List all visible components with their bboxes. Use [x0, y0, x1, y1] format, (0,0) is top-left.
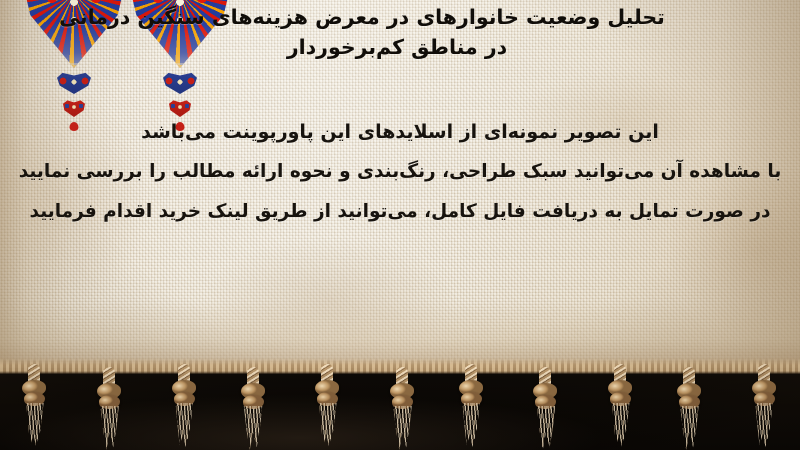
tassel-threads [753, 403, 776, 447]
fringe-tassel [749, 364, 779, 450]
slide-body-text: این تصویر نمونه‌ای از اسلایدهای این پاور… [0, 112, 800, 232]
presentation-slide: تحلیل وضعیت خانوارهای در معرض هزینه‌های … [0, 0, 800, 450]
fringe-tassel [387, 367, 417, 450]
fringe-tassel [169, 364, 199, 450]
slide-title-line-1: تحلیل وضعیت خانوارهای در معرض هزینه‌های … [12, 2, 782, 32]
fringe-tassel [530, 367, 560, 450]
body-line-2: با مشاهده آن می‌توانید سبک طراحی، رنگ‌بن… [0, 152, 800, 192]
tassel-threads [173, 403, 196, 447]
slide-title: تحلیل وضعیت خانوارهای در معرض هزینه‌های … [12, 2, 782, 62]
carpet-fringe-tassels [0, 362, 800, 450]
fringe-tassel [674, 367, 704, 450]
tassel-threads [534, 406, 557, 450]
tassel-threads [23, 403, 46, 447]
body-line-3: در صورت تمایل به دریافت فایل کامل، می‌تو… [0, 192, 800, 232]
fringe-tassel [94, 367, 124, 450]
fringe-tassel [456, 364, 486, 450]
tassel-threads [316, 403, 339, 447]
tassel-threads [678, 406, 701, 450]
tassel-threads [98, 406, 121, 450]
fringe-tassel [238, 367, 268, 450]
tassel-threads [609, 403, 632, 447]
body-line-1: این تصویر نمونه‌ای از اسلایدهای این پاور… [0, 112, 800, 152]
fringe-tassel [19, 364, 49, 450]
tassel-threads [242, 406, 265, 450]
tassel-threads [460, 403, 483, 447]
slide-title-line-2: در مناطق کم‌برخوردار [12, 32, 782, 62]
fringe-tassel [312, 364, 342, 450]
tassel-threads [391, 406, 414, 450]
fringe-tassel [605, 364, 635, 450]
